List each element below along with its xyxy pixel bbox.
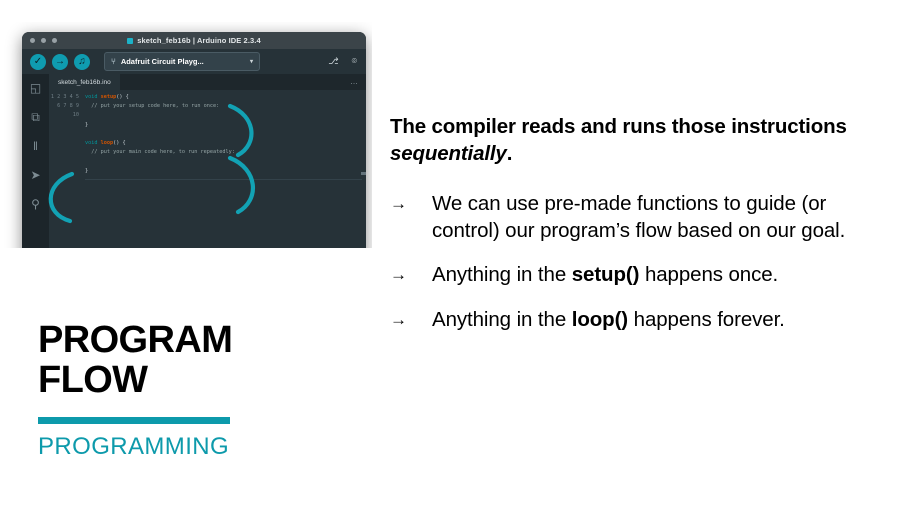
tab-sketch-ino[interactable]: sketch_feb16b.ino — [49, 74, 120, 90]
list-item-text: Anything in the setup() happens once. — [432, 261, 870, 288]
debug-icon[interactable]: ➤ — [30, 169, 40, 181]
list-item-code: loop() — [572, 308, 628, 331]
arduino-app-icon — [127, 38, 133, 44]
sketchbook-icon[interactable]: ◱ — [30, 82, 41, 94]
ide-body: ◱ ⧉ ‖ ➤ ⚲ sketch_feb16b.ino … 1 2 3 4 5 … — [22, 74, 366, 248]
boards-manager-icon[interactable]: ⧉ — [31, 111, 40, 123]
code-l6-tail: () { — [113, 140, 126, 146]
title-divider — [38, 417, 230, 424]
arduino-ide-screenshot: sketch_feb16b | Arduino IDE 2.3.4 ✓ → ♫ … — [0, 22, 372, 248]
editor-scrollbar[interactable] — [361, 172, 366, 175]
verify-button[interactable]: ✓ — [30, 54, 46, 70]
debug-button[interactable]: ♫ — [74, 54, 90, 70]
arrow-right-icon: → — [390, 306, 432, 333]
line-numbers: 1 2 3 4 5 6 7 8 9 10 — [51, 94, 79, 118]
code-text: void setup() { // put your setup code he… — [85, 93, 235, 176]
page-subtitle: PROGRAMMING — [38, 434, 348, 460]
board-selector[interactable]: ⑂ Adafruit Circuit Playg... ▾ — [104, 52, 260, 71]
board-selector-label: Adafruit Circuit Playg... — [121, 57, 204, 66]
upload-button[interactable]: → — [52, 54, 68, 70]
code-fn-setup: setup — [101, 94, 117, 100]
list-item-before: Anything in the — [432, 263, 572, 286]
lead-statement: The compiler reads and runs those instru… — [390, 113, 870, 168]
code-keyword-void-setup: void — [85, 94, 98, 100]
code-editor[interactable]: 1 2 3 4 5 6 7 8 9 10 void setup() { // p… — [49, 90, 366, 176]
ide-toolbar: ✓ → ♫ ⑂ Adafruit Circuit Playg... ▾ ⎇ ⌾ — [22, 49, 366, 74]
arrow-right-icon: → — [390, 190, 432, 245]
list-item-after: happens forever. — [628, 308, 785, 331]
page-title-line1: PROGRAM — [38, 319, 232, 361]
list-item-after: happens once. — [639, 263, 778, 286]
tab-label: sketch_feb16b.ino — [58, 79, 111, 86]
list-item: → Anything in the loop() happens forever… — [390, 306, 870, 333]
code-l1-tail: () { — [116, 94, 129, 100]
lead-emphasis: sequentially — [390, 142, 507, 165]
slide-title-block: PROGRAMFLOW PROGRAMMING — [38, 320, 348, 460]
library-manager-icon[interactable]: ‖ — [33, 140, 38, 152]
minimize-button[interactable] — [41, 38, 46, 43]
code-brace-setup-close: } — [85, 122, 88, 128]
lead-part1: The compiler reads and runs those instru… — [390, 115, 847, 138]
list-item: → We can use pre-made functions to guide… — [390, 190, 870, 245]
window-traffic-lights[interactable] — [30, 38, 57, 43]
list-item-text: Anything in the loop() happens forever. — [432, 306, 870, 333]
close-button[interactable] — [30, 38, 35, 43]
line-number-gutter: 1 2 3 4 5 6 7 8 9 10 — [49, 93, 85, 176]
zoom-button[interactable] — [52, 38, 57, 43]
ide-titlebar: sketch_feb16b | Arduino IDE 2.3.4 — [22, 32, 366, 49]
list-item-text: We can use pre-made functions to guide (… — [432, 190, 870, 245]
search-icon[interactable]: ⚲ — [31, 198, 40, 210]
code-fn-loop: loop — [101, 140, 114, 146]
ide-window-title-text: sketch_feb16b | Arduino IDE 2.3.4 — [137, 36, 261, 45]
ide-window: sketch_feb16b | Arduino IDE 2.3.4 ✓ → ♫ … — [22, 32, 366, 248]
list-item-before: Anything in the — [432, 308, 572, 331]
code-brace-loop-close: } — [85, 168, 88, 174]
list-item: → Anything in the setup() happens once. — [390, 261, 870, 288]
arrow-right-icon: → — [390, 261, 432, 288]
editor-tabbar: sketch_feb16b.ino … — [49, 74, 366, 90]
page-title: PROGRAMFLOW — [38, 320, 348, 401]
serial-monitor-icon[interactable]: ⌾ — [352, 56, 357, 67]
slide-content: The compiler reads and runs those instru… — [390, 113, 870, 333]
bullet-list: → We can use pre-made functions to guide… — [390, 190, 870, 334]
tab-overflow-menu[interactable]: … — [350, 78, 359, 86]
code-keyword-void-loop: void — [85, 140, 98, 146]
chevron-down-icon: ▾ — [250, 58, 253, 65]
page-title-line2: FLOW — [38, 359, 147, 401]
list-item-before: We can use pre-made functions to guide (… — [432, 192, 845, 242]
toolbar-right-actions: ⎇ ⌾ — [328, 56, 357, 67]
editor-pane: sketch_feb16b.ino … 1 2 3 4 5 6 7 8 9 10… — [49, 74, 366, 248]
code-comment-setup: // put your setup code here, to run once… — [85, 103, 219, 109]
board-icon: ⑂ — [111, 57, 116, 66]
code-comment-loop: // put your main code here, to run repea… — [85, 149, 235, 155]
ide-window-title: sketch_feb16b | Arduino IDE 2.3.4 — [22, 36, 366, 45]
serial-plotter-icon[interactable]: ⎇ — [328, 56, 338, 67]
lead-part2: . — [507, 142, 513, 165]
list-item-code: setup() — [572, 263, 640, 286]
activity-bar: ◱ ⧉ ‖ ➤ ⚲ — [22, 74, 49, 248]
active-line-indicator — [85, 179, 362, 180]
